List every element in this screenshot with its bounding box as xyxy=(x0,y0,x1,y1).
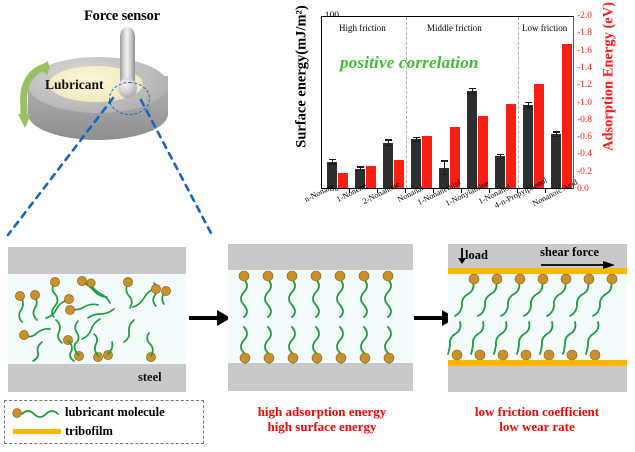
molecule-marker-icon xyxy=(12,405,64,421)
caption-panel2-line2: high surface energy xyxy=(232,419,412,434)
top-plate xyxy=(228,244,413,270)
y-tick-right: -0.8 xyxy=(577,115,592,125)
y-tick-right: -1.8 xyxy=(577,28,592,38)
bars-layer: High friction Middle friction Low fricti… xyxy=(322,17,573,188)
ordered-molecules xyxy=(228,270,413,363)
bottom-plate xyxy=(228,363,413,391)
y-tick-right: -1.6 xyxy=(577,46,592,56)
panel-ordered-adsorbed-layers xyxy=(228,242,413,397)
y-tick-right: -1.4 xyxy=(577,63,592,73)
tilted-molecules xyxy=(448,274,627,360)
bar-adsorption-energy xyxy=(478,116,488,188)
bar-surface-energy xyxy=(411,139,421,188)
tribofilm-marker-icon xyxy=(12,425,64,439)
bar-adsorption-energy xyxy=(534,84,544,188)
bottom-plate xyxy=(448,366,627,392)
molecule-head-group xyxy=(452,274,617,360)
caption-panel2-line1: high adsorption energy xyxy=(232,404,412,419)
arrow-panel1-to-panel2 xyxy=(189,308,231,328)
bar-surface-energy xyxy=(467,91,477,188)
caption-panel2: high adsorption energy high surface ener… xyxy=(232,404,412,434)
caption-panel3: low friction coefficient low wear rate xyxy=(447,404,627,434)
shear-force-arrow-icon xyxy=(541,260,615,270)
error-bar xyxy=(385,139,392,146)
tribometer-schematic: Force sensor Lubricant xyxy=(0,0,280,232)
error-bar xyxy=(497,154,504,159)
panel-disordered-lubricant: steel xyxy=(8,242,186,397)
y-tick-right: -0.2 xyxy=(577,167,592,177)
positive-correlation-annotation: positive correlation xyxy=(340,53,479,73)
zoom-callout-lines xyxy=(0,95,280,235)
legend-box: lubricant molecule tribofilm xyxy=(4,400,204,444)
bar-chart: Surface energy(mJ/m²) Adsorption Energy … xyxy=(281,2,635,224)
bar-adsorption-energy xyxy=(506,104,516,188)
bar-adsorption-energy xyxy=(562,44,572,188)
legend-item-lubricant-molecule xyxy=(12,405,64,423)
error-bar xyxy=(525,102,532,108)
load-label: load xyxy=(465,248,488,263)
force-sensor-label: Force sensor xyxy=(84,8,160,25)
bar-surface-energy xyxy=(523,105,533,189)
error-bar xyxy=(413,137,420,142)
bar-surface-energy xyxy=(551,134,561,188)
caption-panel3-line2: low wear rate xyxy=(447,419,627,434)
figure-root: Force sensor Lubricant Surface energy(mJ… xyxy=(0,0,635,452)
y-tick-right: -0.4 xyxy=(577,149,592,159)
top-plate xyxy=(8,247,186,274)
legend-label-lubricant-molecule: lubricant molecule xyxy=(65,405,165,420)
region-label-low-friction: Low friction xyxy=(522,23,567,33)
panel-sheared-tribofilm: load shear force xyxy=(448,242,627,397)
error-bar xyxy=(441,160,448,175)
y-tick-right: -2.0 xyxy=(577,11,592,21)
error-bar xyxy=(469,88,476,94)
region-label-middle-friction: Middle friction xyxy=(427,23,482,33)
legend-item-tribofilm xyxy=(12,425,64,443)
caption-panel3-line1: low friction coefficient xyxy=(447,404,627,419)
error-bar xyxy=(553,131,560,137)
bar-adsorption-energy xyxy=(366,166,376,188)
y-tick-right: -1.0 xyxy=(577,98,592,108)
load-arrow-icon xyxy=(457,248,467,264)
shear-force-label: shear force xyxy=(540,245,599,260)
bar-adsorption-energy xyxy=(338,173,348,188)
steel-label: steel xyxy=(138,370,162,385)
y-tick-right: -0.6 xyxy=(577,132,592,142)
region-divider xyxy=(518,17,519,188)
region-divider xyxy=(406,17,407,188)
disordered-molecules xyxy=(8,274,186,364)
y-tick-right: -1.2 xyxy=(577,80,592,90)
region-label-high-friction: High friction xyxy=(339,23,386,33)
y-axis-label-left: Surface energy(mJ/m²) xyxy=(294,0,311,167)
error-bar xyxy=(357,166,364,171)
error-bar xyxy=(329,159,336,165)
legend-label-tribofilm: tribofilm xyxy=(65,424,113,439)
plot-area: High friction Middle friction Low fricti… xyxy=(321,16,574,189)
bar-adsorption-energy xyxy=(422,136,432,188)
y-axis-label-right: Adsorption Energy (eV) xyxy=(601,0,618,167)
